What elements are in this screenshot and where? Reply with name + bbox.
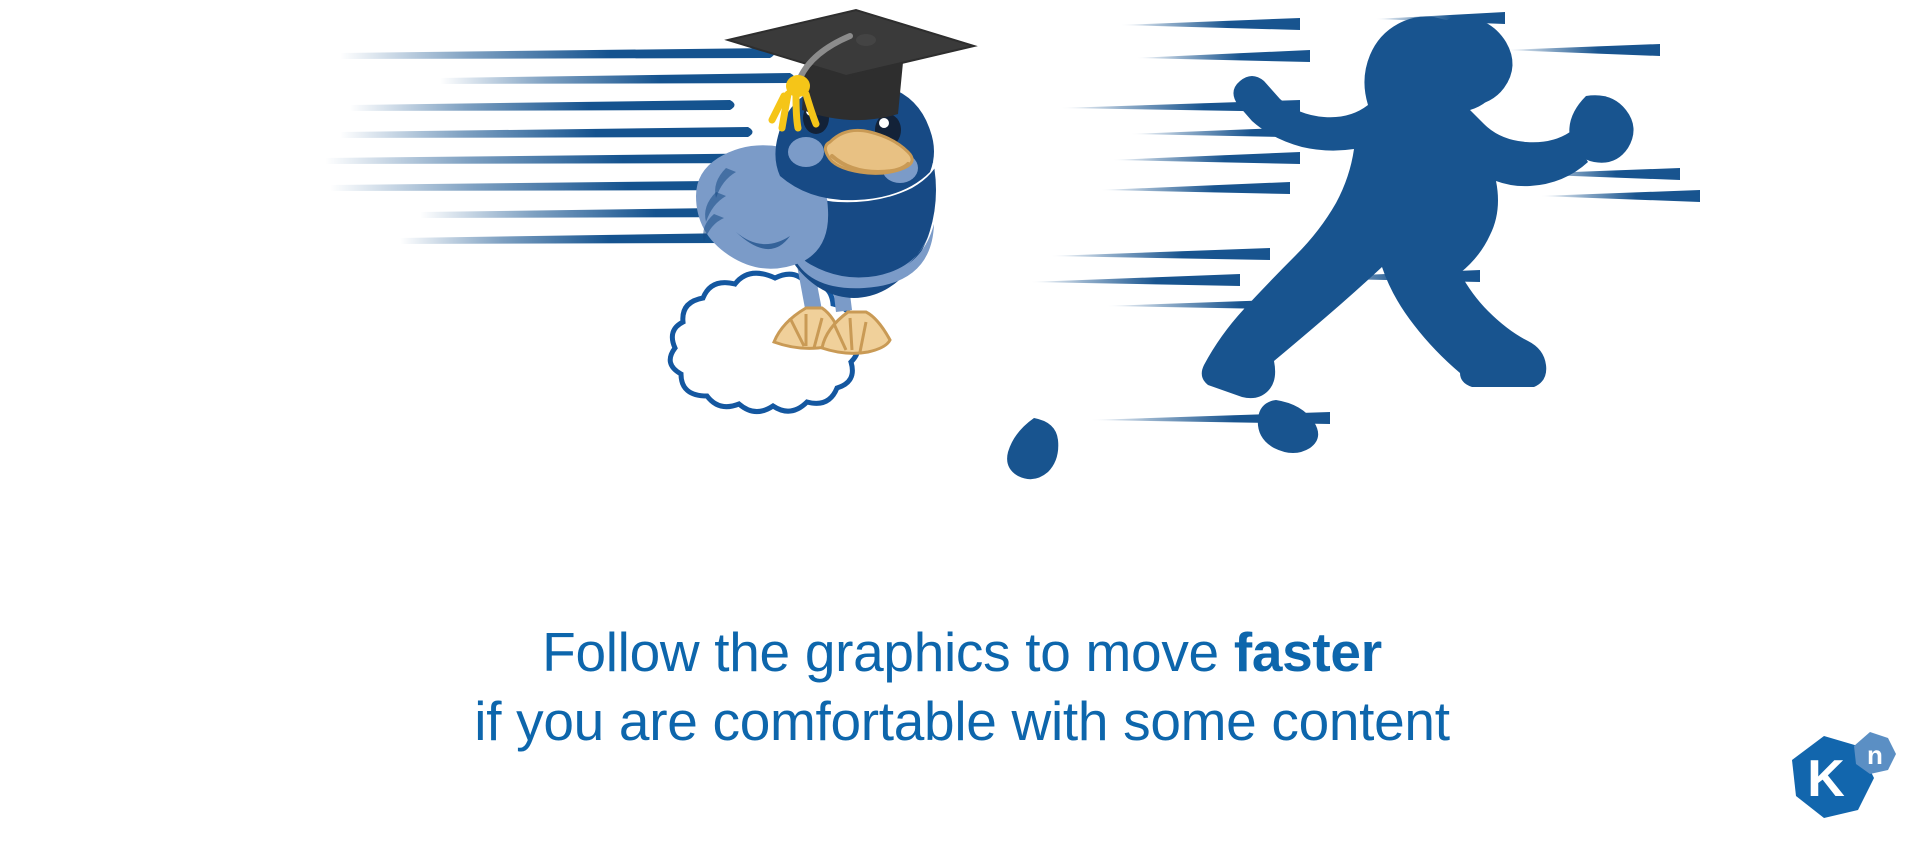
caption-line-1-prefix: Follow the graphics to move: [542, 621, 1234, 683]
illustration-area: [0, 0, 1924, 560]
logo-letter-k: K: [1807, 750, 1845, 808]
caption-block: Follow the graphics to move faster if yo…: [0, 618, 1924, 757]
bird-cheek-left: [788, 137, 824, 167]
slide-root: Follow the graphics to move faster if yo…: [0, 0, 1924, 852]
logo-svg: K n: [1782, 722, 1902, 832]
caption-line-1-emphasis: faster: [1234, 621, 1382, 683]
graduate-bird: [670, 10, 974, 412]
logo-letter-n: n: [1867, 740, 1883, 770]
caption-line-1: Follow the graphics to move faster: [0, 618, 1924, 687]
caption-line-2: if you are comfortable with some content: [0, 687, 1924, 756]
illustration-svg: [0, 0, 1924, 560]
knowledge-logo[interactable]: K n: [1782, 722, 1902, 832]
runner-silhouette: [1007, 16, 1633, 479]
graduation-cap: [728, 10, 974, 128]
